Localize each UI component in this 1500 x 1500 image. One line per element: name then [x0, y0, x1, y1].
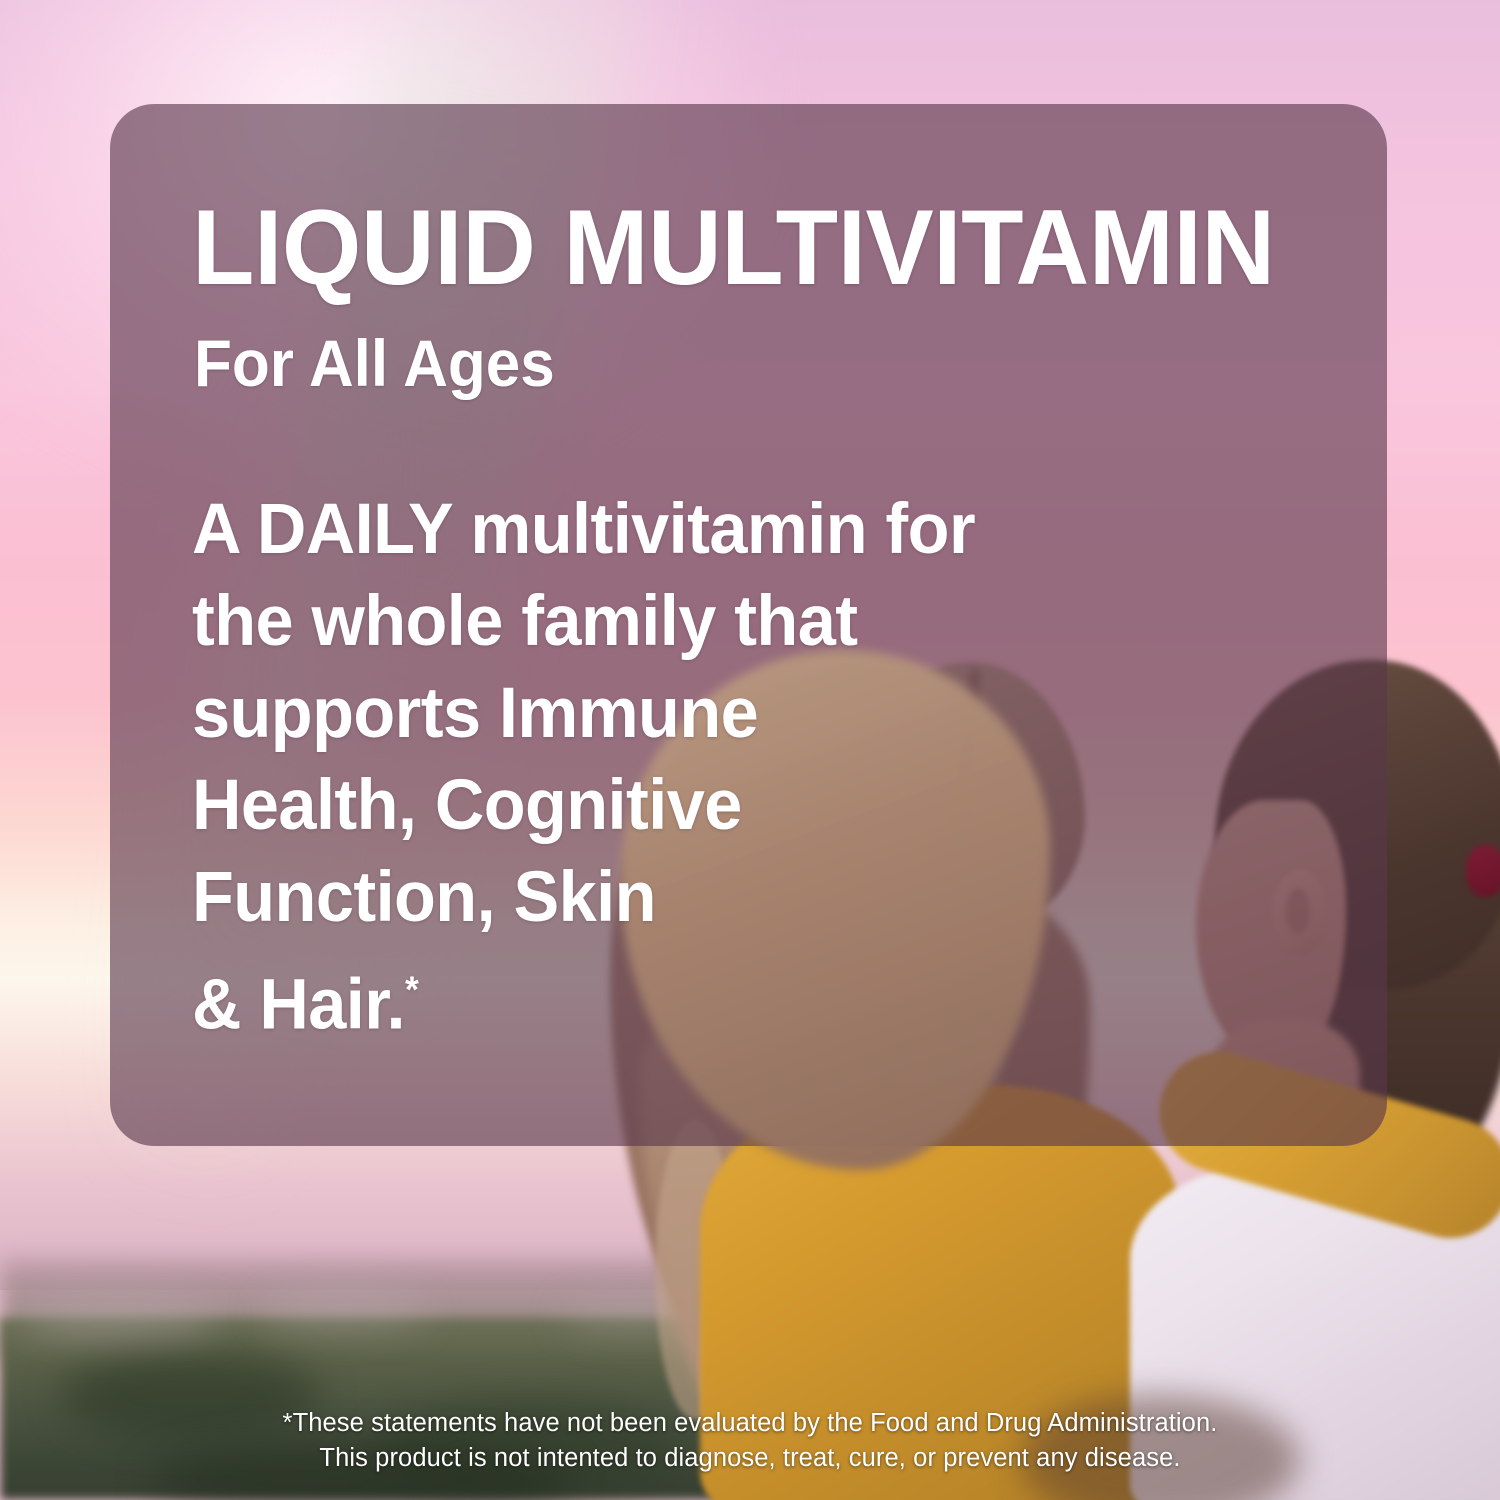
- panel-text-container: LIQUID MULTIVITAMIN For All Ages A DAILY…: [110, 104, 1387, 1146]
- body-line-text: & Hair.: [192, 966, 405, 1045]
- asterisk-marker: *: [405, 969, 418, 1010]
- product-marketing-image: LIQUID MULTIVITAMIN For All Ages A DAILY…: [0, 0, 1500, 1500]
- body-line: Health, Cognitive: [192, 760, 1041, 852]
- fda-disclaimer: *These statements have not been evaluate…: [0, 1406, 1500, 1476]
- body-line: A DAILY multivitamin for: [192, 484, 1041, 576]
- body-line: the whole family that: [192, 576, 1041, 668]
- hair-tie: [1466, 845, 1500, 897]
- disclaimer-line-2: This product is not intented to diagnose…: [0, 1441, 1500, 1476]
- disclaimer-line-1: *These statements have not been evaluate…: [0, 1406, 1500, 1441]
- body-line-last: & Hair.*: [192, 944, 1041, 1052]
- body-line: supports Immune: [192, 668, 1041, 760]
- page-title: LIQUID MULTIVITAMIN: [192, 194, 1275, 301]
- body-line: Function, Skin: [192, 852, 1041, 944]
- subtitle: For All Ages: [194, 330, 555, 396]
- body-copy: A DAILY multivitamin for the whole famil…: [192, 484, 1072, 1052]
